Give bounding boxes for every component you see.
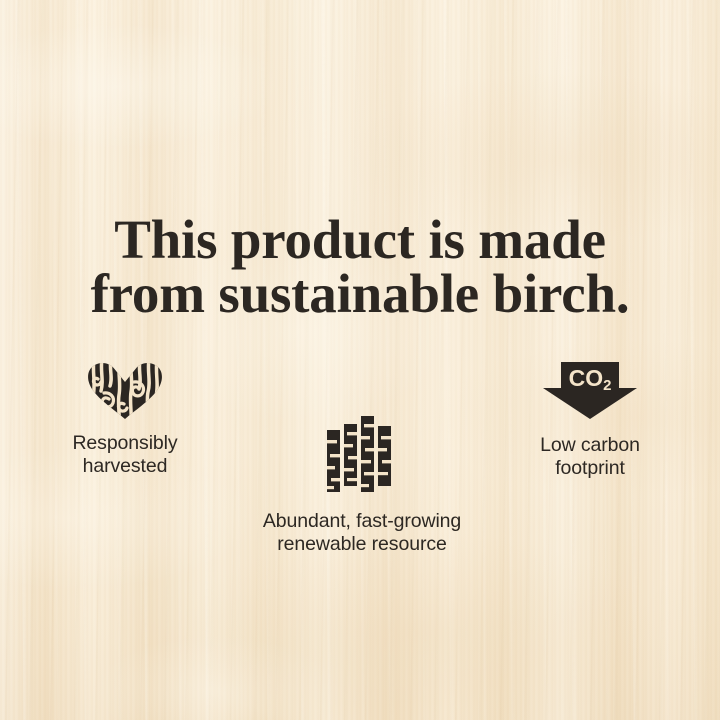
wood-grain-heart-icon xyxy=(86,362,164,420)
co2-down-arrow-icon-wrapper: CO2 xyxy=(490,362,690,420)
wood-grain-heart-icon-wrapper xyxy=(25,362,225,420)
feature-low-carbon-footprint: CO2 Low carbon footprint xyxy=(490,362,690,480)
birch-trunks-icon xyxy=(326,416,398,492)
birch-product-panel: This product is made from sustainable bi… xyxy=(0,0,720,720)
feature-caption-low-carbon-footprint: Low carbon footprint xyxy=(490,434,690,480)
background-vignette xyxy=(0,0,720,720)
feature-renewable-resource: Abundant, fast-growing renewable resourc… xyxy=(262,416,462,556)
birch-trunks-icon-wrapper xyxy=(262,416,462,492)
feature-caption-renewable-resource: Abundant, fast-growing renewable resourc… xyxy=(262,510,462,556)
page-headline: This product is made from sustainable bi… xyxy=(0,213,720,321)
co2-down-arrow-icon: CO2 xyxy=(542,362,638,420)
feature-responsibly-harvested: Responsibly harvested xyxy=(25,362,225,478)
feature-caption-responsibly-harvested: Responsibly harvested xyxy=(25,432,225,478)
